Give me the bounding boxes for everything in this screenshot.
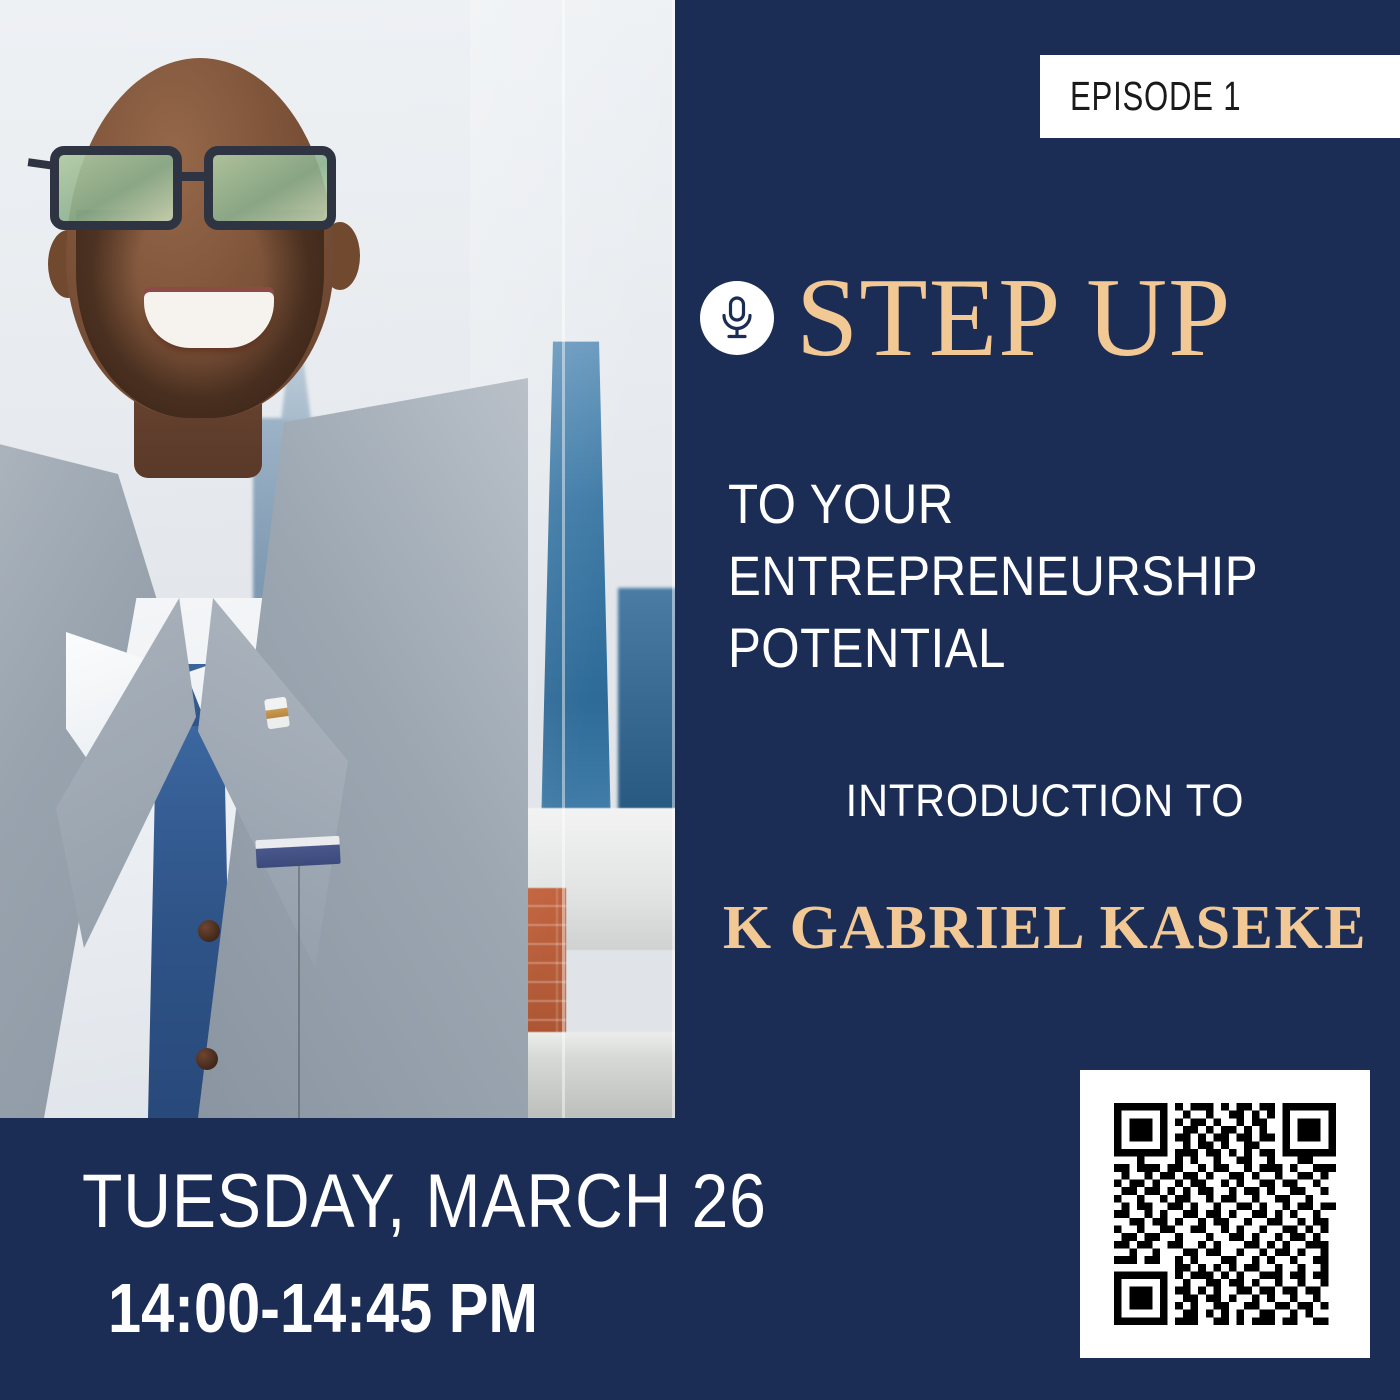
episode-badge-label: EPISODE 1	[1070, 73, 1241, 120]
subtitle-line-1: TO YOUR	[728, 468, 1309, 540]
subtitle: TO YOUR ENTREPRENEURSHIP POTENTIAL	[728, 468, 1309, 685]
qr-code-icon[interactable]	[1114, 1103, 1336, 1325]
glass-mullion-2	[672, 0, 675, 1118]
speaker-name: K GABRIEL KASEKE	[700, 893, 1390, 964]
intro-label: INTRODUCTION TO	[728, 775, 1363, 827]
speaker-figure	[0, 0, 508, 1118]
jacket-button-1	[198, 920, 220, 942]
eyeglass-lens-left	[50, 146, 182, 230]
glass-mullion-1	[562, 0, 565, 1118]
speaker-photo	[0, 0, 675, 1118]
qr-code-card[interactable]	[1080, 1070, 1370, 1358]
podcast-episode-poster: EPISODE 1 STEP UP TO YOUR ENTREPRENEURSH…	[0, 0, 1400, 1400]
eyeglass-bridge	[180, 172, 212, 181]
lapel-pin-icon	[264, 697, 290, 730]
jacket-button-2	[196, 1048, 218, 1070]
page-title: STEP UP	[796, 262, 1231, 374]
episode-badge: EPISODE 1	[1040, 55, 1400, 138]
subtitle-line-3: POTENTIAL	[728, 612, 1309, 684]
eyeglasses-icon	[44, 142, 360, 238]
jacket-seam	[298, 858, 300, 1118]
subtitle-line-2: ENTREPRENEURSHIP	[728, 540, 1309, 612]
microphone-icon	[700, 281, 774, 355]
event-date: TUESDAY, MARCH 26	[82, 1158, 767, 1245]
smile	[144, 292, 274, 348]
eyeglass-lens-right	[204, 146, 336, 230]
brand-title-row: STEP UP	[700, 262, 1231, 374]
event-time: 14:00-14:45 PM	[108, 1268, 538, 1348]
